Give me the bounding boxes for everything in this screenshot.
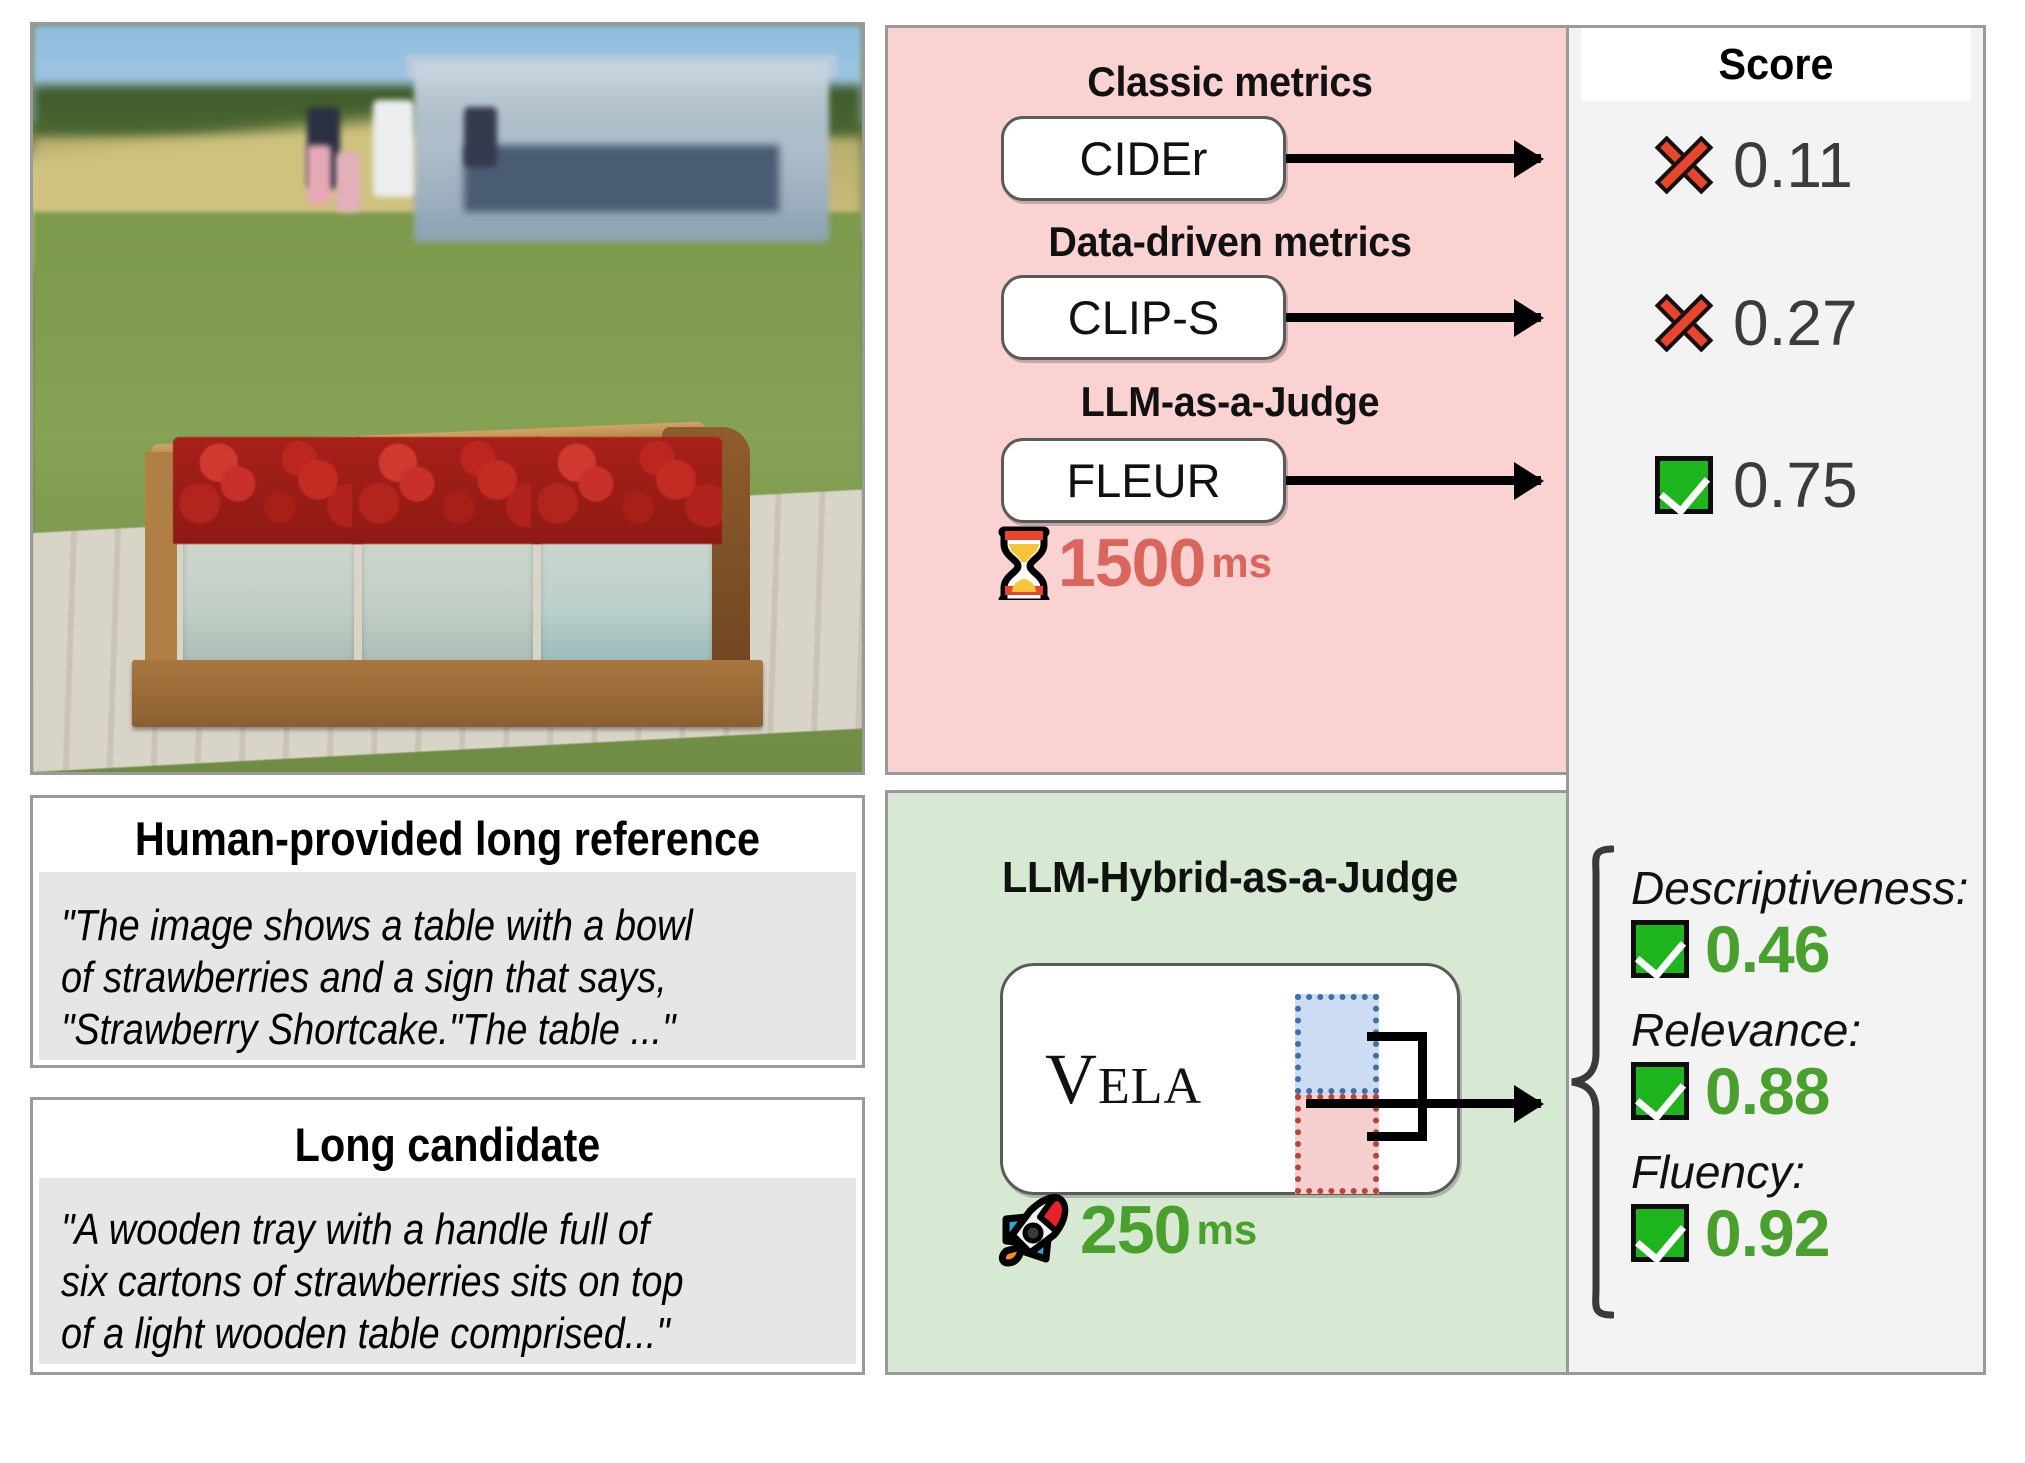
arrow-cider-to-score bbox=[1286, 154, 1541, 163]
vela-wordmark: VELA bbox=[1045, 1038, 1202, 1121]
score-value-fluency: 0.92 bbox=[1705, 1195, 1829, 1271]
check-icon bbox=[1631, 920, 1689, 978]
photo-strawberries bbox=[531, 437, 723, 543]
photo-tray-base bbox=[132, 660, 762, 727]
score-row-relevance: Relevance: 0.88 bbox=[1631, 1003, 1861, 1129]
photo-wagon-bed bbox=[464, 145, 779, 212]
vela-latency: 250 ms bbox=[996, 1191, 1257, 1269]
long-candidate-card: Long candidate "A wooden tray with a han… bbox=[30, 1097, 865, 1375]
metric-box-clip-s[interactable]: CLIP-S bbox=[1001, 275, 1286, 360]
photo-child-1 bbox=[307, 145, 332, 205]
human-reference-line-3: "Strawberry Shortcake."The table ..." bbox=[61, 1004, 733, 1056]
photo-carton-row bbox=[183, 513, 712, 685]
photo-child-2 bbox=[336, 152, 361, 212]
vela-connector-vert bbox=[1418, 1032, 1427, 1141]
metric-box-fleur[interactable]: FLEUR bbox=[1001, 438, 1286, 523]
long-candidate-text: "A wooden tray with a handle full of six… bbox=[39, 1178, 856, 1364]
score-label-fluency: Fluency: bbox=[1631, 1145, 1829, 1199]
score-row-fleur: 0.75 bbox=[1655, 448, 1858, 522]
human-reference-text: "The image shows a table with a bowl of … bbox=[39, 872, 856, 1060]
group-label-classic-metrics: Classic metrics bbox=[909, 58, 1552, 106]
vela-scores-brace bbox=[1568, 845, 1614, 1319]
human-reference-line-2: of strawberries and a sign that says, bbox=[61, 952, 733, 1004]
score-value-cider: 0.11 bbox=[1733, 128, 1853, 202]
score-row-fluency: Fluency: 0.92 bbox=[1631, 1145, 1829, 1271]
hourglass-icon bbox=[996, 526, 1052, 600]
human-reference-line-1: "The image shows a table with a bowl bbox=[61, 900, 733, 952]
photo-carton bbox=[541, 513, 712, 685]
score-row-cider: 0.11 bbox=[1655, 128, 1853, 202]
strawberry-basket-photo bbox=[30, 22, 865, 775]
vela-wordmark-v: V bbox=[1045, 1039, 1098, 1119]
vela-panel-label: LLM-Hybrid-as-a-Judge bbox=[909, 853, 1552, 903]
vela-image-feature-box bbox=[1295, 994, 1379, 1094]
check-icon bbox=[1631, 1204, 1689, 1262]
photo-carton bbox=[362, 513, 533, 685]
group-label-llm-as-a-judge: LLM-as-a-Judge bbox=[909, 378, 1552, 426]
long-candidate-line-1: "A wooden tray with a handle full of bbox=[61, 1204, 733, 1256]
score-label-relevance: Relevance: bbox=[1631, 1003, 1861, 1057]
score-column-header: Score bbox=[1581, 28, 1970, 101]
arrow-fleur-to-score bbox=[1286, 476, 1541, 485]
vela-text-feature-box bbox=[1295, 1094, 1379, 1194]
baseline-latency-value: 1500 bbox=[1058, 524, 1205, 602]
long-candidate-line-3: of a light wooden table comprised..." bbox=[61, 1308, 733, 1360]
check-icon bbox=[1655, 456, 1713, 514]
photo-strawberries bbox=[173, 437, 365, 543]
human-reference-title: Human-provided long reference bbox=[83, 798, 813, 872]
score-column: Score 0.11 0.27 0.75 Descriptiveness: 0.… bbox=[1566, 25, 1986, 1375]
score-value-descriptiveness: 0.46 bbox=[1705, 911, 1829, 987]
vela-wordmark-ela: ELA bbox=[1098, 1058, 1202, 1115]
photo-person-3 bbox=[464, 107, 497, 167]
vela-panel: LLM-Hybrid-as-a-Judge VELA 250 ms bbox=[885, 790, 1575, 1375]
score-value-relevance: 0.88 bbox=[1705, 1053, 1829, 1129]
baseline-metrics-panel: Classic metrics CIDEr Data-driven metric… bbox=[885, 25, 1575, 775]
baseline-latency-unit: ms bbox=[1211, 539, 1272, 587]
score-row-clip-s: 0.27 bbox=[1655, 286, 1858, 360]
score-value-clip-s: 0.27 bbox=[1733, 286, 1858, 360]
long-candidate-line-2: six cartons of strawberries sits on top bbox=[61, 1256, 733, 1308]
vela-latency-unit: ms bbox=[1196, 1206, 1257, 1254]
photo-carton bbox=[183, 513, 354, 685]
score-row-descriptiveness: Descriptiveness: 0.46 bbox=[1631, 861, 1968, 987]
cross-icon bbox=[1655, 294, 1713, 352]
score-label-descriptiveness: Descriptiveness: bbox=[1631, 861, 1968, 915]
score-value-fleur: 0.75 bbox=[1733, 448, 1858, 522]
photo-person-2 bbox=[373, 100, 414, 197]
baseline-latency: 1500 ms bbox=[996, 524, 1272, 602]
vela-model-box[interactable]: VELA bbox=[1000, 963, 1460, 1195]
cross-icon bbox=[1655, 136, 1713, 194]
photo-strawberries bbox=[352, 437, 544, 543]
vela-latency-value: 250 bbox=[1080, 1191, 1190, 1269]
arrow-clip-s-to-score bbox=[1286, 313, 1541, 322]
rocket-icon bbox=[996, 1193, 1074, 1267]
arrow-vela-to-score bbox=[1306, 1099, 1541, 1108]
group-label-data-driven-metrics: Data-driven metrics bbox=[909, 218, 1552, 266]
human-reference-card: Human-provided long reference "The image… bbox=[30, 795, 865, 1068]
long-candidate-title: Long candidate bbox=[83, 1100, 813, 1178]
check-icon bbox=[1631, 1062, 1689, 1120]
photo-wooden-tray bbox=[132, 421, 762, 727]
metric-box-cider[interactable]: CIDEr bbox=[1001, 116, 1286, 201]
